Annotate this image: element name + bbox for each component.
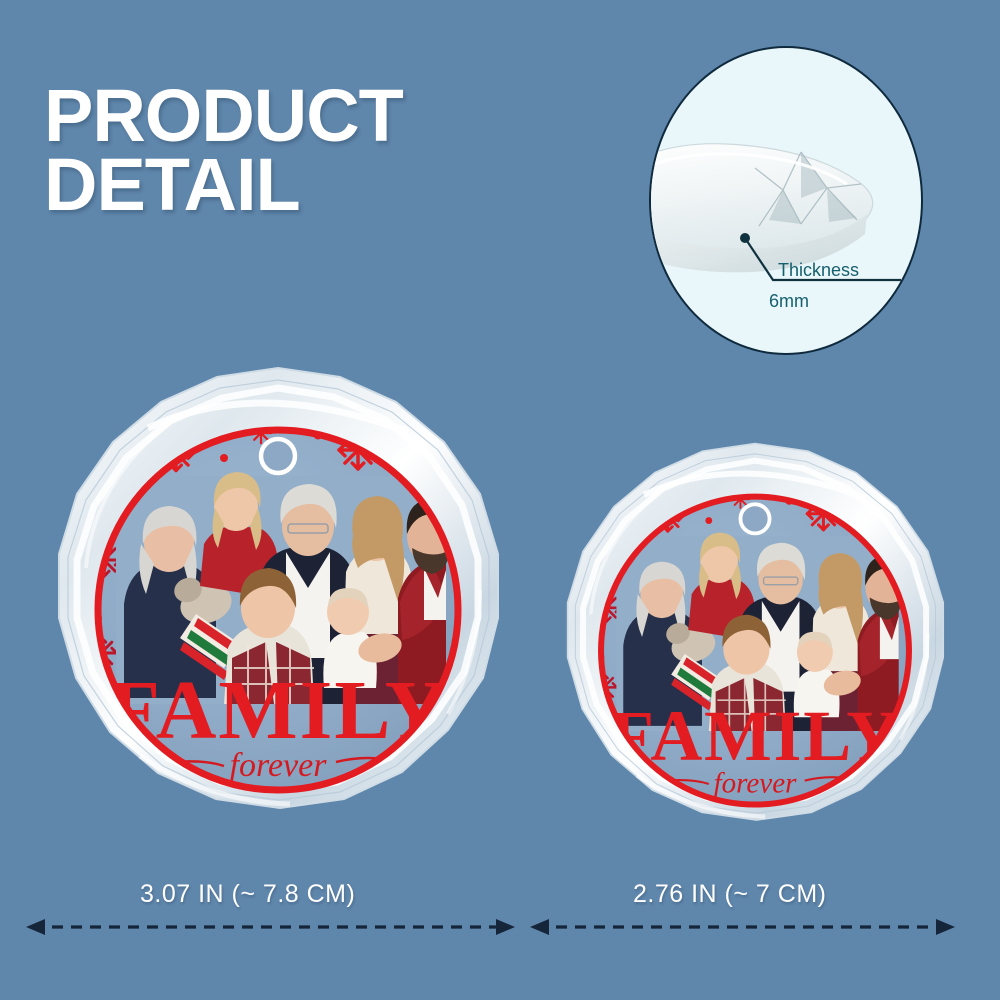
- hanging-hole-large: [261, 439, 295, 473]
- script-text-small: forever: [714, 768, 798, 800]
- thickness-value: 6mm: [769, 291, 809, 312]
- dimension-arrow-small: [530, 919, 955, 935]
- ornament-small-graphic: FAMILY forever: [540, 435, 970, 867]
- ornament-large-graphic: FAMILY forever: [28, 358, 528, 863]
- hanging-hole-small: [740, 504, 769, 533]
- thickness-callout: Thickness 6mm: [649, 46, 923, 355]
- dimension-arrows: [0, 905, 1000, 955]
- ornament-small[interactable]: FAMILY forever: [540, 435, 970, 867]
- page-title: PRODUCT DETAIL: [44, 82, 403, 220]
- product-detail-canvas: PRODUCT DETAIL: [0, 0, 1000, 1000]
- dimension-arrow-large: [26, 919, 515, 935]
- script-text-large: forever: [230, 747, 328, 784]
- thickness-label: Thickness: [778, 260, 859, 281]
- ornament-large[interactable]: FAMILY forever: [28, 358, 528, 863]
